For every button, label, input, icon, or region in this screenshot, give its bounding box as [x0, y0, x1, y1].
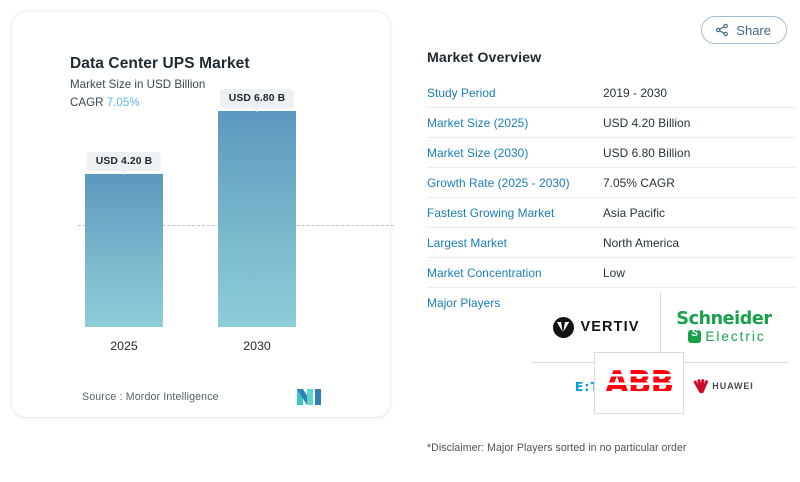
table-row: Market Size (2030) USD 6.80 Billion	[427, 138, 796, 168]
bar-group-2025[interactable]: USD 4.20 B	[85, 174, 163, 327]
chart-bars: USD 4.20 B USD 6.80 B	[70, 132, 370, 327]
row-value: North America	[603, 236, 679, 250]
chart-cagr-value: 7.05%	[107, 96, 140, 109]
table-row: Fastest Growing Market Asia Pacific	[427, 198, 796, 228]
huawei-flower-icon	[694, 379, 708, 393]
row-key: Market Size (2030)	[427, 146, 603, 160]
overview-panel: Share Market Overview Study Period 2019 …	[424, 0, 800, 482]
table-row: Growth Rate (2025 - 2030) 7.05% CAGR	[427, 168, 796, 198]
overview-title: Market Overview	[427, 50, 541, 66]
row-value: Asia Pacific	[603, 206, 665, 220]
chart-cagr-label: CAGR	[70, 96, 104, 109]
mordor-intelligence-logo-icon	[296, 386, 322, 406]
share-button-label: Share	[736, 23, 771, 38]
chart-title: Data Center UPS Market	[70, 54, 372, 73]
table-row: Market Concentration Low	[427, 258, 796, 288]
bar-2025[interactable]	[85, 174, 163, 327]
schneider-electric-logo-icon: Schneider Electric	[676, 311, 771, 344]
row-key: Fastest Growing Market	[427, 206, 603, 220]
row-key: Study Period	[427, 86, 603, 100]
row-value: Low	[603, 266, 625, 280]
abb-wordmark: ABB	[605, 365, 673, 401]
chart-source-label: Source :	[82, 391, 123, 403]
chart-source-name: Mordor Intelligence	[126, 391, 219, 403]
row-key: Largest Market	[427, 236, 603, 250]
schneider-wordmark-line2-wrap: Electric	[688, 330, 771, 344]
huawei-wordmark: HUAWEI	[712, 381, 753, 391]
chart-card: Data Center UPS Market Market Size in US…	[12, 12, 390, 417]
bar-value-label-2025: USD 4.20 B	[87, 152, 161, 171]
x-axis-tick-2025: 2025	[85, 339, 163, 353]
row-value: 7.05% CAGR	[603, 176, 675, 190]
row-key: Market Concentration	[427, 266, 603, 280]
row-value: USD 6.80 Billion	[603, 146, 690, 160]
table-row: Market Size (2025) USD 4.20 Billion	[427, 108, 796, 138]
vertiv-mark-icon	[553, 317, 574, 338]
huawei-logo-icon: HUAWEI	[694, 379, 753, 393]
row-key: Growth Rate (2025 - 2030)	[427, 176, 603, 190]
table-row: Study Period 2019 - 2030	[427, 78, 796, 108]
row-key: Market Size (2025)	[427, 116, 603, 130]
chart-plot-area: USD 4.20 B USD 6.80 B 2025 2030	[70, 132, 370, 367]
player-cell-abb: ABB	[594, 352, 684, 414]
row-value: USD 4.20 Billion	[603, 116, 690, 130]
share-button[interactable]: Share	[701, 16, 787, 44]
vertiv-logo-icon: VERTIV	[553, 317, 640, 338]
bar-value-label-2030: USD 6.80 B	[220, 89, 294, 108]
bar-group-2030[interactable]: USD 6.80 B	[218, 111, 296, 327]
x-axis-tick-2030: 2030	[218, 339, 296, 353]
row-value: 2019 - 2030	[603, 86, 667, 100]
page-root: Data Center UPS Market Market Size in US…	[0, 0, 800, 482]
table-row: Largest Market North America	[427, 228, 796, 258]
schneider-wordmark-line2: Electric	[705, 330, 765, 344]
abb-logo-icon: ABB	[605, 368, 673, 399]
chart-source: Source : Mordor Intelligence	[82, 391, 219, 403]
vertiv-wordmark: VERTIV	[581, 319, 640, 335]
overview-table: Study Period 2019 - 2030 Market Size (20…	[427, 78, 796, 318]
schneider-badge-icon	[688, 330, 701, 343]
share-nodes-icon	[715, 23, 729, 37]
disclaimer-text: *Disclaimer: Major Players sorted in no …	[427, 442, 687, 454]
bar-2030[interactable]	[218, 111, 296, 327]
schneider-wordmark-line1: Schneider	[676, 311, 771, 329]
